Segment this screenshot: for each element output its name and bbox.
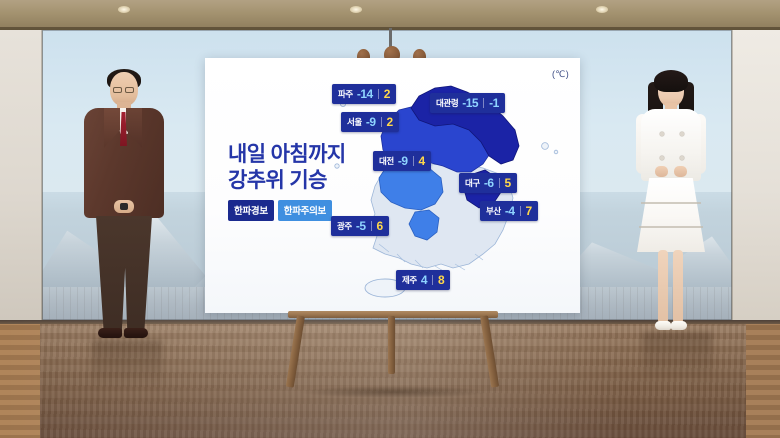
- temp-label-paju[interactable]: 파주 -14 2: [332, 84, 396, 104]
- female-anchor: [614, 74, 734, 336]
- badge-cold-wave-advisory[interactable]: 한파주의보: [278, 200, 332, 221]
- temp-min: -9: [398, 154, 408, 168]
- headline: 내일 아침까지 강추위 기승: [228, 142, 378, 193]
- female-anchor-shoe-right: [671, 321, 687, 330]
- jacket-button: [680, 156, 684, 160]
- studio-ceiling: [0, 0, 780, 30]
- temp-separator: [483, 98, 484, 108]
- badge-cold-wave-warning[interactable]: 한파경보: [228, 200, 274, 221]
- city-name: 대관령: [436, 97, 458, 109]
- temp-max: 5: [505, 176, 511, 190]
- male-anchor-shoe-right: [124, 328, 148, 338]
- city-name: 제주: [402, 274, 417, 286]
- wall-seam-left: [41, 30, 43, 320]
- temp-max: 6: [377, 219, 383, 233]
- weather-board[interactable]: (℃): [205, 58, 580, 313]
- temp-max: 2: [387, 115, 393, 129]
- ceiling-light: [596, 6, 608, 13]
- male-anchor: [62, 72, 186, 342]
- female-anchor-shoe-left: [655, 321, 671, 330]
- temp-min: -6: [484, 176, 494, 190]
- skirt-tier-seam: [641, 202, 701, 204]
- temp-max: 8: [438, 273, 444, 287]
- temp-separator: [371, 221, 372, 231]
- city-name: 서울: [347, 116, 362, 128]
- map-dokdo: [554, 150, 558, 154]
- temp-max: 4: [419, 154, 425, 168]
- city-name: 대전: [379, 155, 394, 167]
- temp-separator: [378, 89, 379, 99]
- temp-separator: [432, 275, 433, 285]
- female-anchor-hand-left: [655, 166, 668, 177]
- temp-separator: [381, 117, 382, 127]
- city-name: 광주: [337, 220, 352, 232]
- male-anchor-floor-reflection: [92, 340, 162, 390]
- city-name: 파주: [338, 88, 353, 100]
- alert-badge-group: 한파경보 한파주의보: [228, 200, 332, 221]
- female-anchor-leg-left: [658, 250, 668, 324]
- male-anchor-shoe-left: [98, 328, 122, 338]
- temp-max: 7: [526, 204, 532, 218]
- female-anchor-hair-top: [654, 70, 688, 92]
- jacket-button: [660, 156, 664, 160]
- handheld-microphone: [120, 203, 128, 210]
- temp-min: -14: [357, 87, 373, 101]
- female-anchor-white-jacket: [641, 109, 701, 181]
- floor-strip-left: [0, 320, 40, 438]
- ceiling-light: [350, 6, 362, 13]
- headline-line-2: 강추위 기승: [228, 168, 378, 194]
- temp-label-jeju[interactable]: 제주 4 8: [396, 270, 450, 290]
- temp-label-daegwallyeong[interactable]: 대관령 -15 -1: [430, 93, 505, 113]
- temp-separator: [520, 206, 521, 216]
- easel-leg-center: [388, 316, 395, 374]
- temp-min: -9: [366, 115, 376, 129]
- map-ulleungdo: [542, 143, 549, 150]
- female-anchor-hand-right: [674, 166, 687, 177]
- temp-label-daegu[interactable]: 대구 -6 5: [459, 173, 517, 193]
- temp-label-busan[interactable]: 부산 -4 7: [480, 201, 538, 221]
- glasses-icon: [113, 87, 122, 93]
- temp-label-gwangju[interactable]: 광주 -5 6: [331, 216, 389, 236]
- jacket-button: [680, 132, 684, 136]
- glasses-icon: [125, 87, 134, 93]
- temp-max: -1: [489, 96, 499, 110]
- headline-line-1: 내일 아침까지: [228, 142, 378, 168]
- temp-max: 2: [384, 87, 390, 101]
- studio-wall-right: [732, 30, 780, 320]
- temp-label-seoul[interactable]: 서울 -9 2: [341, 112, 399, 132]
- female-anchor-floor-reflection: [642, 332, 712, 382]
- temp-separator: [413, 156, 414, 166]
- floor-strip-right: [746, 320, 780, 438]
- temp-min: -4: [505, 204, 515, 218]
- jacket-button: [660, 132, 664, 136]
- skirt-tier-seam: [639, 226, 703, 228]
- ceiling-light: [118, 6, 130, 13]
- studio-wall-left: [0, 30, 42, 320]
- broadcast-screenshot: (℃): [0, 0, 780, 438]
- male-anchor-trousers: [96, 216, 152, 334]
- temp-label-daejeon[interactable]: 대전 -9 4: [373, 151, 431, 171]
- temp-separator: [499, 178, 500, 188]
- temp-min: 4: [421, 273, 427, 287]
- temp-min: -15: [462, 96, 478, 110]
- female-anchor-tiered-skirt: [637, 178, 705, 252]
- city-name: 대구: [465, 177, 480, 189]
- female-anchor-leg-right: [673, 250, 683, 324]
- easel-shadow: [300, 386, 490, 398]
- temp-min: -5: [356, 219, 366, 233]
- city-name: 부산: [486, 205, 501, 217]
